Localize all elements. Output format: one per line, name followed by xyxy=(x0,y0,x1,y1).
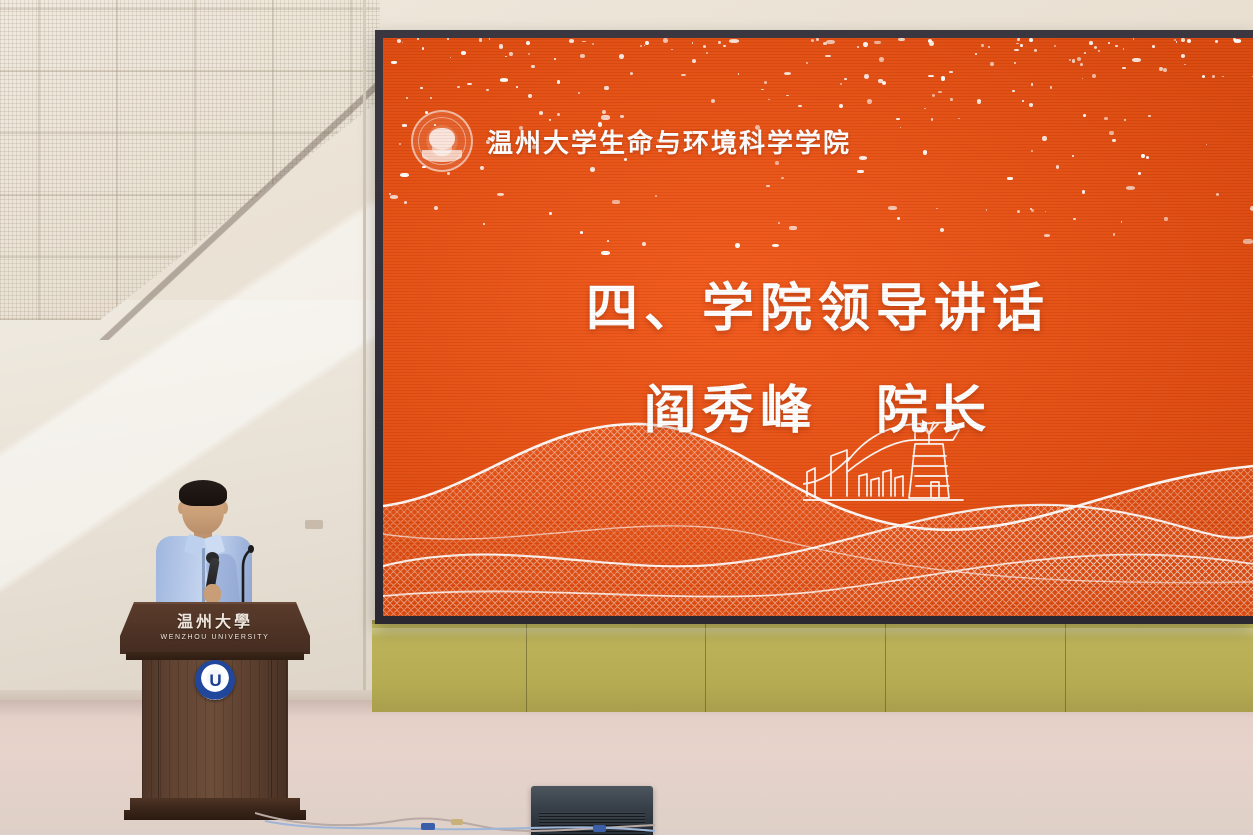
stage-highlight xyxy=(372,628,1253,638)
slide-title: 四、学院领导讲话 xyxy=(383,266,1253,341)
university-seal-icon xyxy=(411,110,473,172)
podium-name-en: WENZHOU UNIVERSITY xyxy=(120,634,310,641)
presenter-hair xyxy=(179,480,227,506)
slide-header: 温州大学生命与环境科学学院 xyxy=(411,110,851,172)
wall-blemish xyxy=(305,520,323,529)
presenter-hand xyxy=(204,584,221,604)
podium-lip xyxy=(126,652,304,660)
slide-subtitle: 阎秀峰 院长 xyxy=(383,368,1253,443)
photo-scene: 温州大学生命与环境科学学院 四、学院领导讲话 阎秀峰 院长 温州大學 WENZH… xyxy=(0,0,1253,835)
university-logo-icon: U xyxy=(195,660,235,700)
podium-name-cn: 温州大學 xyxy=(120,608,310,632)
podium: 温州大學 WENZHOU UNIVERSITY U xyxy=(120,602,310,824)
led-screen: 温州大学生命与环境科学学院 四、学院领导讲话 阎秀峰 院长 xyxy=(383,38,1253,616)
logo-letter: U xyxy=(209,672,220,689)
gooseneck-microphone-icon xyxy=(232,545,254,607)
wall-seam xyxy=(363,0,366,706)
podium-nameplate: 温州大學 WENZHOU UNIVERSITY xyxy=(120,608,310,641)
floor-cables xyxy=(255,795,655,835)
school-name-label: 温州大学生命与环境科学学院 xyxy=(487,123,851,160)
